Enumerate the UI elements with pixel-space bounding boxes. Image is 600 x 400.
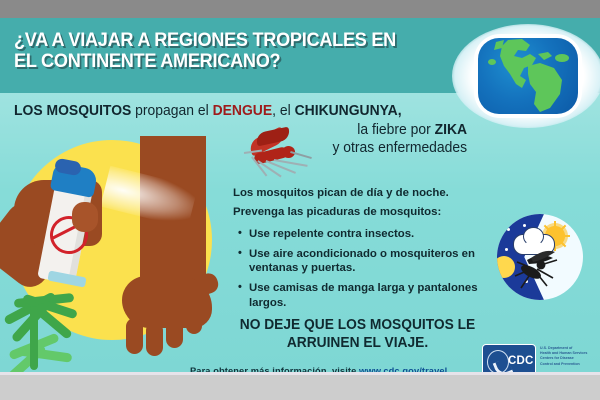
lede-mid-1: propagan el [131,103,212,119]
list-item: Use aire acondicionado o mosquiteros en … [249,247,495,275]
lede-line-1: LOS MOSQUITOS propagan el DENGUE, el CHI… [14,102,467,121]
prevention-bullet-list: Use repelente contra insectos. Use aire … [233,227,495,310]
finger [146,322,163,356]
body-line-1: Los mosquitos pican de día y de noche. [233,186,495,201]
americas-map-shape [478,38,578,114]
lede-line2-pre: la fiebre por [357,122,434,138]
top-frame-band [0,0,600,18]
day-night-mosquito-icon [497,214,583,300]
lede-strong-zika: ZIKA [435,122,467,138]
globe-americas-icon [452,24,600,128]
finger [126,318,143,354]
insect-repellent-spray-illustration [0,136,235,372]
call-to-action: NO DEJE QUE LOS MOSQUITOS LE ARRUINEN EL… [222,317,493,352]
list-item: Use camisas de manga larga y pantalones … [249,281,495,309]
gripping-thumb [72,202,98,232]
headline-line-2: EL CONTINENTE AMERICANO? [14,51,433,72]
dark-mosquito-icon [497,214,583,300]
poster-root: ¿VA A VIAJAR A REGIONES TROPICALES EN EL… [0,0,600,400]
cdc-logo-letters: CDC [508,355,534,367]
cdc-logo[interactable]: CDC [482,344,536,372]
bottom-frame-band [0,372,600,400]
frame-hairline [0,372,600,375]
lede-strong-mosquitos: LOS MOSQUITOS [14,103,131,119]
lede-strong-chikungunya: CHIKUNGUNYA, [295,103,402,119]
lede-mid-2: , el [272,103,294,119]
headline-line-1: ¿VA A VIAJAR A REGIONES TROPICALES EN [14,30,433,51]
poster-canvas: ¿VA A VIAJAR A REGIONES TROPICALES EN EL… [0,18,600,372]
body-line-2: Prevenga las picaduras de mosquitos: [233,205,495,220]
palm-trunk [30,306,38,370]
cta-line-2: ARRUINEN EL VIAJE. [222,335,493,353]
hhs-agency-text: U.S. Department of Health and Human Serv… [540,346,598,367]
finger [166,318,183,348]
hhs-seal-icon [487,350,509,372]
list-item: Use repelente contra insectos. [249,227,495,241]
body-copy: Los mosquitos pican de día y de noche. P… [233,186,495,316]
lede-strong-dengue: DENGUE [213,103,273,119]
cta-line-1: NO DEJE QUE LOS MOSQUITOS LE [222,317,493,335]
globe-inner [478,38,578,114]
page-title: ¿VA A VIAJAR A REGIONES TROPICALES EN EL… [14,30,433,72]
finger [186,308,202,334]
red-mosquito-icon [222,128,318,180]
agency-line-4: Control and Prevention [540,362,598,367]
